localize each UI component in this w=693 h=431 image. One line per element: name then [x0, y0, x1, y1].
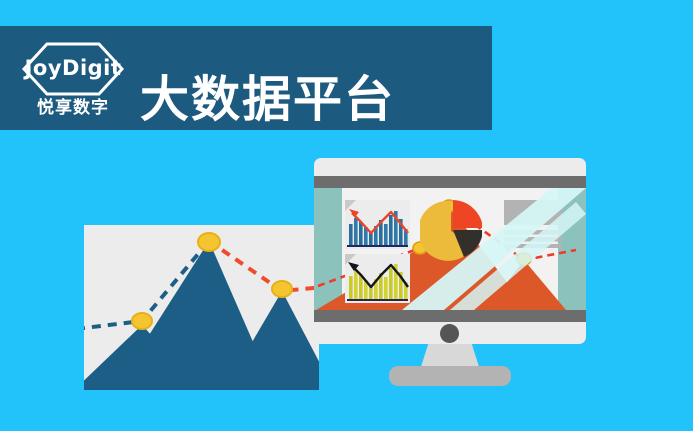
- hexagon-icon: JoyDigit: [21, 41, 125, 97]
- monitor-top-bezel: [314, 176, 586, 188]
- left-chart-panel: [84, 225, 319, 390]
- doc-text-line: [504, 244, 562, 248]
- page-title: 大数据平台: [140, 76, 395, 125]
- data-marker: [272, 281, 292, 297]
- monitor-illustration: [314, 158, 586, 344]
- screen-data-marker: [517, 253, 531, 265]
- data-marker: [132, 313, 152, 329]
- monitor-power-button[interactable]: [440, 324, 459, 343]
- bar-chart-card-blue: [345, 200, 410, 249]
- text-document-widget: [504, 200, 562, 248]
- card-fold-corner: [345, 200, 356, 211]
- data-marker: [198, 233, 220, 251]
- pie-chart: [420, 200, 482, 262]
- monitor-bottom-bezel: [314, 310, 586, 322]
- header-banner: JoyDigit 悦享数字 大数据平台: [0, 26, 492, 130]
- left-mountain-area-chart: [84, 225, 319, 390]
- monitor-stand-base: [389, 366, 511, 386]
- doc-text-line: [504, 237, 562, 242]
- pie-slice-b: [453, 200, 482, 228]
- illustration-canvas: JoyDigit 悦享数字 大数据平台: [0, 0, 693, 431]
- monitor-screen: [314, 188, 586, 310]
- brand-logo: JoyDigit 悦享数字: [14, 34, 132, 122]
- logo-subtitle: 悦享数字: [37, 99, 109, 116]
- logo-wordmark: JoyDigit: [25, 58, 122, 79]
- card-fold-corner: [345, 254, 356, 265]
- doc-text-line: [504, 230, 562, 235]
- bar-chart-card-olive: [345, 254, 410, 303]
- doc-image-placeholder: [504, 200, 562, 225]
